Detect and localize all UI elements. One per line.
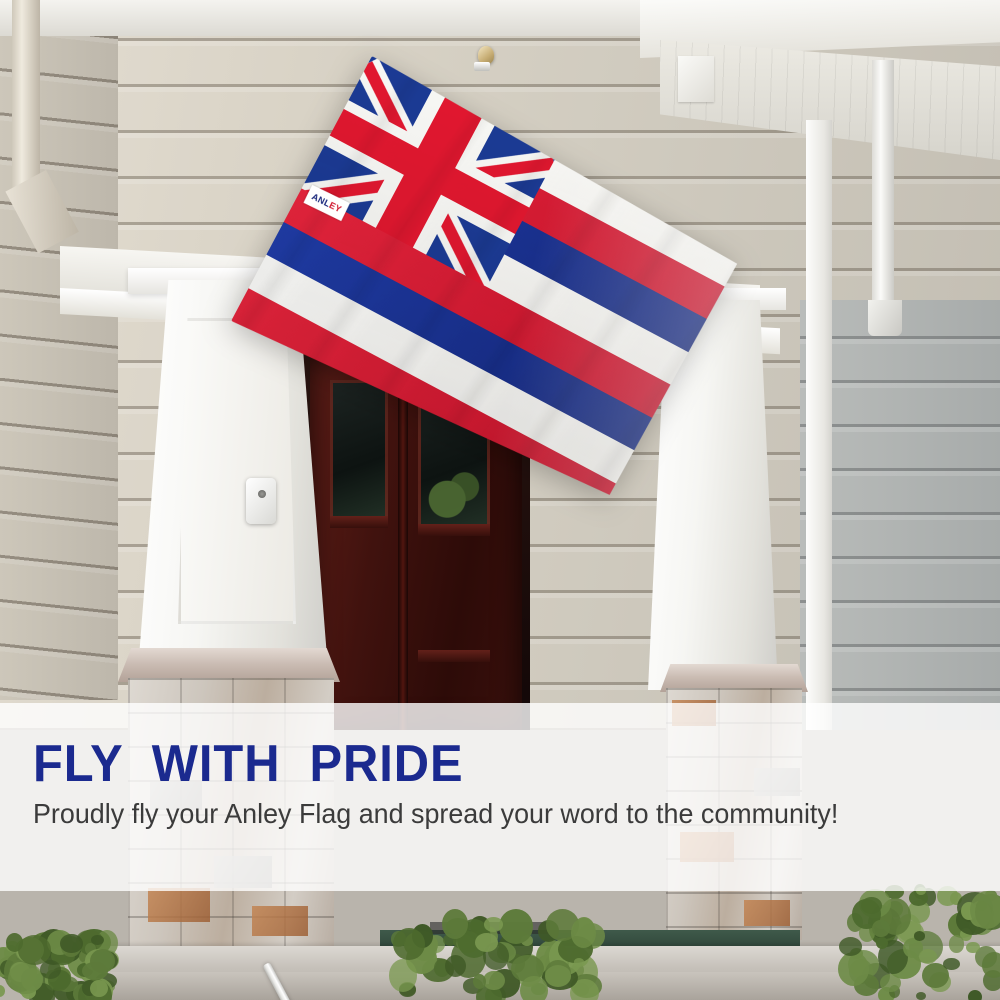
- flagpole-collar: [474, 62, 490, 71]
- flagpole-bracket-pin: [258, 490, 266, 498]
- downspout-right-outlet: [868, 300, 902, 336]
- banner-headline: FLY WITH PRIDE: [33, 738, 464, 790]
- banner-subhead: Proudly fly your Anley Flag and spread y…: [33, 798, 838, 830]
- door-rail: [418, 650, 490, 662]
- wall-vent: [678, 56, 714, 102]
- shrub-left: [0, 928, 120, 1000]
- door-rail: [418, 524, 490, 536]
- pier-cap-left: [118, 648, 340, 682]
- corner-trim-board: [806, 120, 832, 730]
- column-panel-inset-left: [178, 318, 296, 624]
- downspout-right: [872, 60, 894, 310]
- shrub-center: [386, 906, 606, 1000]
- door-rail: [330, 516, 388, 528]
- stone-block: [252, 906, 308, 936]
- shrub-right: [836, 880, 1000, 1000]
- flagpole-wall-bracket: [246, 478, 276, 524]
- downspout-left: [12, 0, 40, 190]
- door-glass-pane-left: [330, 380, 388, 520]
- stone-block: [744, 900, 790, 926]
- stone-block: [148, 888, 210, 922]
- product-lifestyle-photo: ANLEY FLY WITH PRIDE Proudly fly your An…: [0, 0, 1000, 1000]
- door-glass-reflection: [424, 462, 482, 524]
- marketing-banner: [0, 703, 1000, 891]
